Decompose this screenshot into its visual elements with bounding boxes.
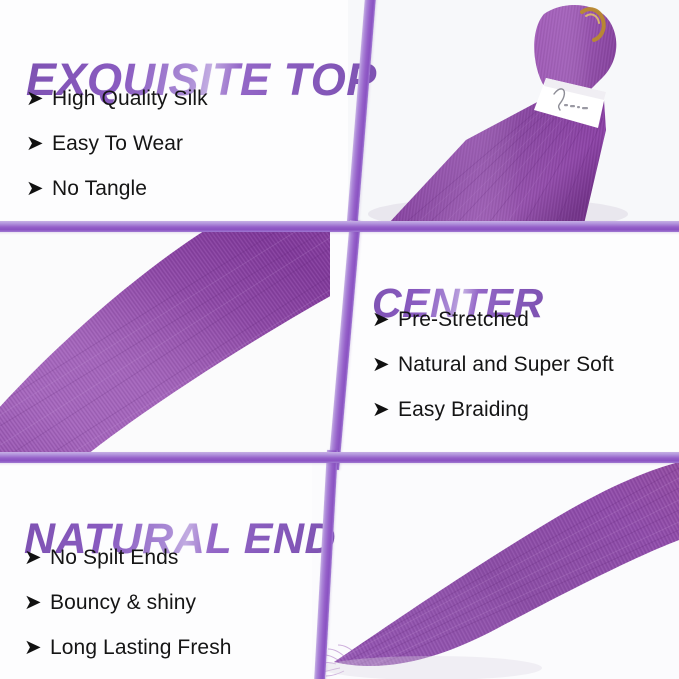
product-feature-infographic: EXQUISITE TOP ➤ High Quality Silk ➤ Easy…	[0, 0, 679, 679]
panel-hair-tip-photo	[312, 462, 679, 679]
hair-bundle-folded-photo	[348, 0, 679, 224]
feature-label: High Quality Silk	[52, 88, 208, 109]
hair-strand-diagonal-photo	[0, 228, 352, 456]
feature-label: Easy To Wear	[52, 133, 183, 154]
arrow-head-icon: ➤	[24, 592, 50, 613]
arrow-head-icon: ➤	[26, 133, 52, 154]
list-item: ➤ Easy To Wear	[26, 121, 208, 166]
list-item: ➤ No Spilt Ends	[24, 535, 232, 580]
feature-list-natural-end: ➤ No Spilt Ends ➤ Bouncy & shiny ➤ Long …	[24, 535, 232, 670]
arrow-head-icon: ➤	[372, 354, 398, 375]
arrow-head-icon: ➤	[24, 637, 50, 658]
list-item: ➤ Pre-Stretched	[372, 297, 614, 342]
feature-list-center: ➤ Pre-Stretched ➤ Natural and Super Soft…	[372, 297, 614, 432]
list-item: ➤ Natural and Super Soft	[372, 342, 614, 387]
feature-label: No Tangle	[52, 178, 147, 199]
arrow-head-icon: ➤	[372, 309, 398, 330]
feature-label: Pre-Stretched	[398, 309, 529, 330]
hair-tapered-end-photo	[312, 462, 679, 679]
feature-label: Bouncy & shiny	[50, 592, 196, 613]
arrow-head-icon: ➤	[26, 88, 52, 109]
feature-label: No Spilt Ends	[50, 547, 179, 568]
panel-hair-bundle-photo	[348, 0, 679, 224]
arrow-head-icon: ➤	[24, 547, 50, 568]
feature-label: Natural and Super Soft	[398, 354, 614, 375]
feature-list-exquisite-top: ➤ High Quality Silk ➤ Easy To Wear ➤ No …	[26, 76, 208, 211]
panel-hair-strand-photo	[0, 228, 352, 456]
list-item: ➤ Easy Braiding	[372, 387, 614, 432]
arrow-head-icon: ➤	[26, 178, 52, 199]
arrow-head-icon: ➤	[372, 399, 398, 420]
list-item: ➤ High Quality Silk	[26, 76, 208, 121]
feature-label: Long Lasting Fresh	[50, 637, 232, 658]
feature-label: Easy Braiding	[398, 399, 529, 420]
list-item: ➤ No Tangle	[26, 166, 208, 211]
list-item: ➤ Bouncy & shiny	[24, 580, 232, 625]
list-item: ➤ Long Lasting Fresh	[24, 625, 232, 670]
